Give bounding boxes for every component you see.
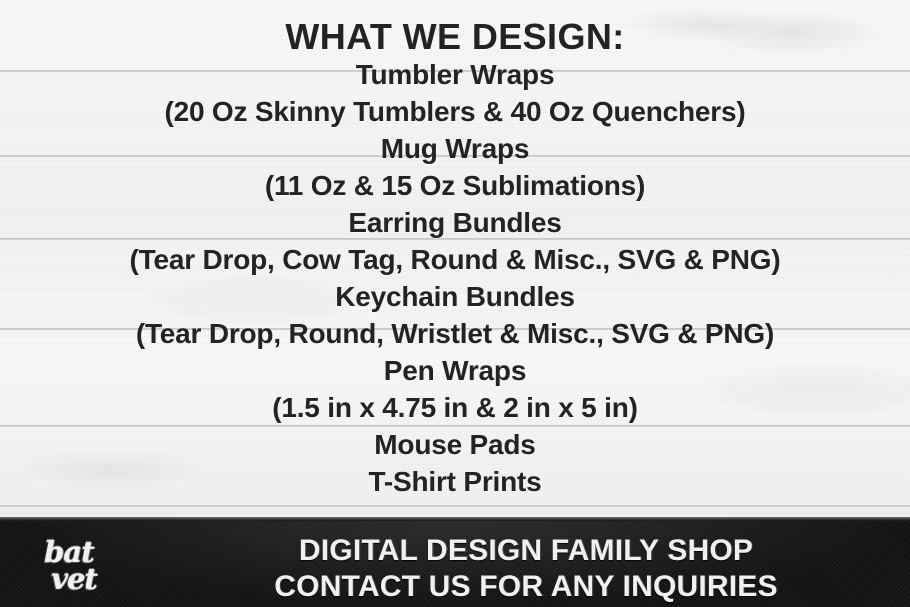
poster-content: WHAT WE DESIGN: Tumbler Wraps (20 Oz Ski… <box>0 0 910 517</box>
logo-word-vet: vet <box>44 566 140 593</box>
shop-logo: bat vet <box>44 539 140 601</box>
list-item: Mouse Pads <box>0 431 910 468</box>
list-item: (Tear Drop, Cow Tag, Round & Misc., SVG … <box>0 246 910 283</box>
list-item: (11 Oz & 15 Oz Sublimations) <box>0 172 910 209</box>
list-item: T-Shirt Prints <box>0 468 910 505</box>
banner-contact-line: CONTACT US FOR ANY INQUIRIES <box>150 569 902 605</box>
list-item: Pen Wraps <box>0 357 910 394</box>
banner-shop-name: DIGITAL DESIGN FAMILY SHOP <box>150 533 902 569</box>
list-item: Tumbler Wraps <box>0 61 910 98</box>
design-list: Tumbler Wraps (20 Oz Skinny Tumblers & 4… <box>0 61 910 505</box>
list-item: (20 Oz Skinny Tumblers & 40 Oz Quenchers… <box>0 98 910 135</box>
page-title: WHAT WE DESIGN: <box>0 19 910 55</box>
banner-top-edge <box>0 517 910 521</box>
poster-canvas: WHAT WE DESIGN: Tumbler Wraps (20 Oz Ski… <box>0 0 910 607</box>
list-item: (Tear Drop, Round, Wristlet & Misc., SVG… <box>0 320 910 357</box>
banner-text-block: DIGITAL DESIGN FAMILY SHOP CONTACT US FO… <box>150 533 902 605</box>
list-item: Keychain Bundles <box>0 283 910 320</box>
list-item: (1.5 in x 4.75 in & 2 in x 5 in) <box>0 394 910 431</box>
bottom-banner: bat vet DIGITAL DESIGN FAMILY SHOP CONTA… <box>0 517 910 607</box>
list-item: Earring Bundles <box>0 209 910 246</box>
list-item: Mug Wraps <box>0 135 910 172</box>
